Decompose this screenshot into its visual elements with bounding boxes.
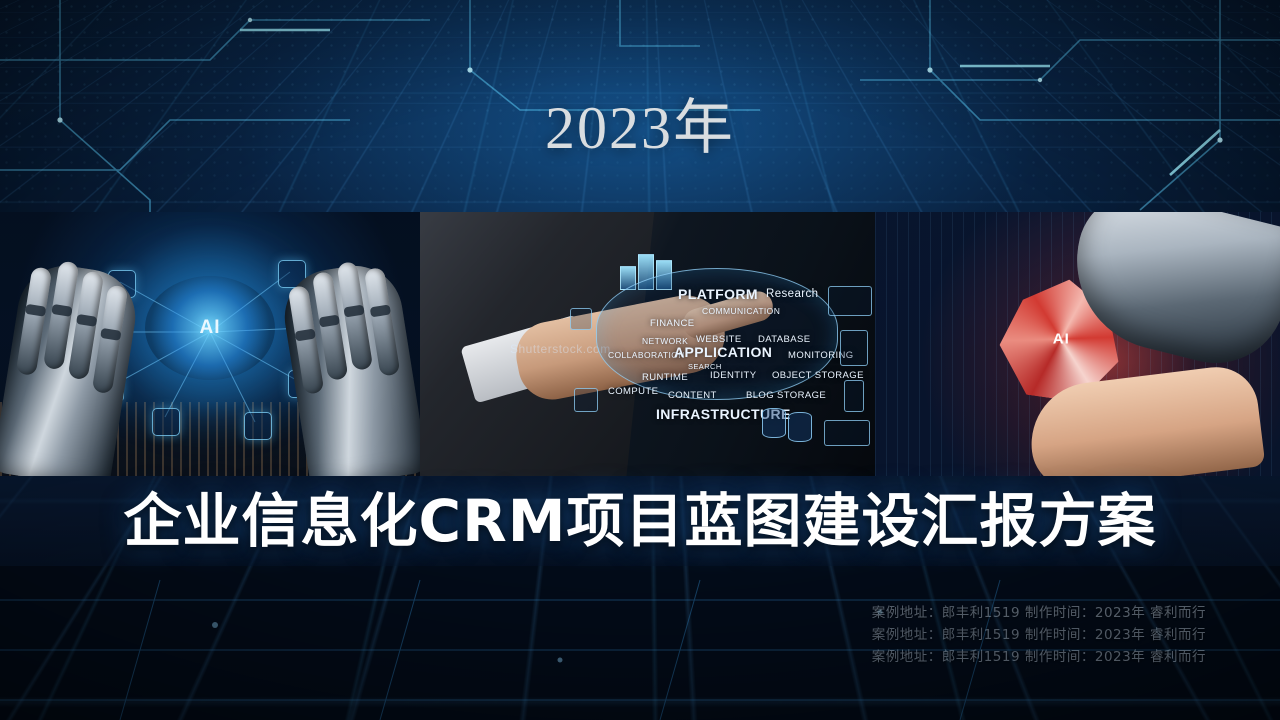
label-identity: IDENTITY [710,370,756,381]
photo-businessman-cloud-diagram: Shutterstock.com PLATFORM Research COMMU… [420,212,875,476]
photo-robot-hands-ai-brain: AI [0,212,420,476]
monitor-icon [840,330,868,366]
label-research: Research [766,288,818,300]
ai-label-right: AI [1053,330,1070,347]
page-title: 企业信息化CRM项目蓝图建设汇报方案 [0,486,1280,556]
credit-line-1: 案例地址：郎丰利1519 制作时间：2023年 睿利而行 [872,602,1206,624]
image-strip: AI [0,212,1280,476]
tablet-icon [844,380,864,412]
photo-robot-hand-crystal-brain: AI [875,212,1280,476]
label-runtime: RUNTIME [642,372,688,383]
label-content: CONTENT [668,390,717,401]
network-node-icon [152,408,180,436]
credit-block: 案例地址：郎丰利1519 制作时间：2023年 睿利而行 案例地址：郎丰利151… [872,602,1206,668]
slide-year: 2023年 [0,98,1280,158]
database-cylinder-icon [788,412,812,442]
label-platform: PLATFORM [678,286,758,302]
label-blog-storage: BLOG STORAGE [746,390,826,401]
square-node-icon [574,388,598,412]
credit-line-2: 案例地址：郎丰利1519 制作时间：2023年 睿利而行 [872,624,1206,646]
presentation-slide: 2023年 AI [0,0,1280,720]
label-application: APPLICATION [674,344,772,360]
label-compute: COMPUTE [608,386,658,397]
credit-line-3: 案例地址：郎丰利1519 制作时间：2023年 睿利而行 [872,646,1206,668]
database-cylinder-icon [762,408,786,438]
screen-icon [824,420,870,446]
square-node-icon [570,308,592,330]
label-finance: FINANCE [650,318,695,329]
ai-label-left: AI [200,317,221,339]
laptop-icon [828,286,872,316]
label-communication: COMMUNICATION [702,306,780,316]
network-node-icon [244,412,272,440]
